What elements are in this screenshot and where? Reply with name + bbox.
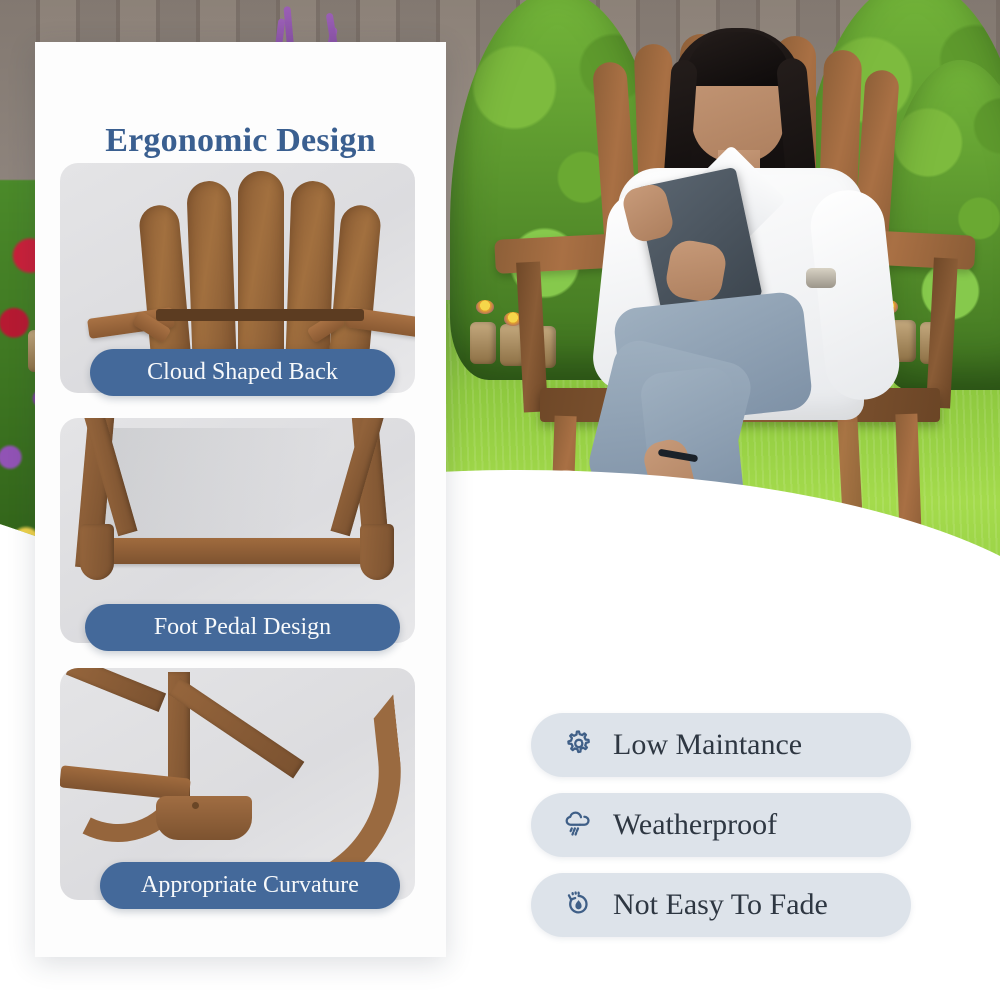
- feature-pill-not-easy-to-fade[interactable]: Not Easy To Fade: [531, 873, 911, 937]
- feature-label: Low Maintance: [613, 728, 802, 762]
- chair-rocker-end-left: [80, 524, 114, 580]
- gear-icon: [559, 726, 597, 764]
- card-label-appropriate-curvature[interactable]: Appropriate Curvature: [100, 862, 400, 909]
- infographic-root: Ergonomic Design Cloud Shaped Back Foot …: [0, 0, 1000, 1000]
- water-drop-refresh-icon: [559, 886, 597, 924]
- feature-pill-weatherproof[interactable]: Weatherproof: [531, 793, 911, 857]
- pansy-flower: [476, 300, 494, 314]
- card-label-cloud-shaped-back[interactable]: Cloud Shaped Back: [90, 349, 395, 396]
- feature-label: Not Easy To Fade: [613, 888, 828, 922]
- garden-border-stone: [470, 322, 496, 364]
- feature-label: Weatherproof: [613, 808, 777, 842]
- wristwatch: [806, 268, 836, 288]
- card-label-foot-pedal-design[interactable]: Foot Pedal Design: [85, 604, 400, 651]
- chair-screw: [192, 802, 199, 809]
- chair-foot-pedal-rail: [88, 538, 388, 564]
- cloud-rain-icon: [559, 806, 597, 844]
- page-title: Ergonomic Design: [35, 122, 446, 160]
- chair-rocker-end-right: [360, 524, 394, 580]
- chair-back-cross-rail: [156, 309, 364, 321]
- chair-rocker-foot: [156, 796, 252, 840]
- feature-pill-low-maintance[interactable]: Low Maintance: [531, 713, 911, 777]
